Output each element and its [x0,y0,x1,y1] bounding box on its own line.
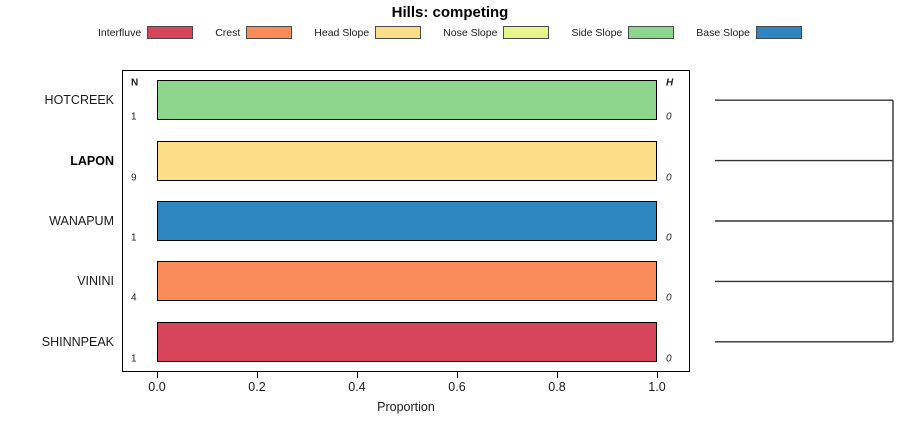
n-column-header: N [131,78,138,89]
legend-item[interactable]: Nose Slope [443,26,549,39]
x-axis-tick-label: 0.4 [348,380,365,394]
x-axis-tick-label: 0.6 [448,380,465,394]
legend-color-swatch [628,26,674,39]
y-axis-label[interactable]: LAPON [70,154,114,168]
y-axis-label[interactable]: VININI [77,274,114,288]
h-value: 0 [666,112,672,123]
legend-color-swatch [147,26,193,39]
legend-item[interactable]: Base Slope [696,26,802,39]
legend-color-swatch [246,26,292,39]
h-value: 0 [666,172,672,183]
h-column-header: H [666,78,673,89]
n-value: 4 [131,293,137,304]
x-axis-tick [457,372,458,378]
x-axis-tick [357,372,358,378]
legend-item[interactable]: Crest [215,26,292,39]
n-value: 1 [131,233,137,244]
y-axis-label[interactable]: SHINNPEAK [42,335,114,349]
legend-color-swatch [503,26,549,39]
plot-panel [122,70,690,372]
legend-item-label: Head Slope [314,27,369,39]
x-axis: 0.00.20.40.60.81.0 [122,372,690,382]
chart-title: Hills: competing [0,4,900,21]
x-axis-tick-label: 0.2 [248,380,265,394]
y-axis-category-labels: HOTCREEKLAPONWANAPUMVININISHINNPEAK [0,70,118,372]
x-axis-title: Proportion [122,400,690,414]
n-value: 1 [131,112,137,123]
x-axis-tick [157,372,158,378]
legend-color-swatch [756,26,802,39]
x-axis-tick [257,372,258,378]
x-axis-tick-label: 0.0 [148,380,165,394]
chart-root: Hills: competing InterfluveCrestHead Slo… [0,0,900,440]
legend-item-label: Base Slope [696,27,750,39]
legend-item-label: Nose Slope [443,27,497,39]
dendrogram [690,70,900,372]
legend-item-label: Side Slope [571,27,622,39]
h-value: 0 [666,293,672,304]
x-axis-tick-label: 0.8 [548,380,565,394]
x-axis-tick-label: 1.0 [648,380,665,394]
dendrogram-svg [690,70,900,372]
n-value: 9 [131,172,137,183]
legend-item[interactable]: Head Slope [314,26,421,39]
n-value: 1 [131,353,137,364]
h-value: 0 [666,353,672,364]
legend-item[interactable]: Interfluve [98,26,193,39]
y-axis-label[interactable]: WANAPUM [49,214,114,228]
x-axis-tick [657,372,658,378]
legend-color-swatch [375,26,421,39]
chart-legend: InterfluveCrestHead SlopeNose SlopeSide … [0,26,900,39]
y-axis-label[interactable]: HOTCREEK [45,93,114,107]
x-axis-tick [557,372,558,378]
legend-item-label: Crest [215,27,240,39]
legend-item-label: Interfluve [98,27,141,39]
legend-item[interactable]: Side Slope [571,26,674,39]
h-value: 0 [666,233,672,244]
